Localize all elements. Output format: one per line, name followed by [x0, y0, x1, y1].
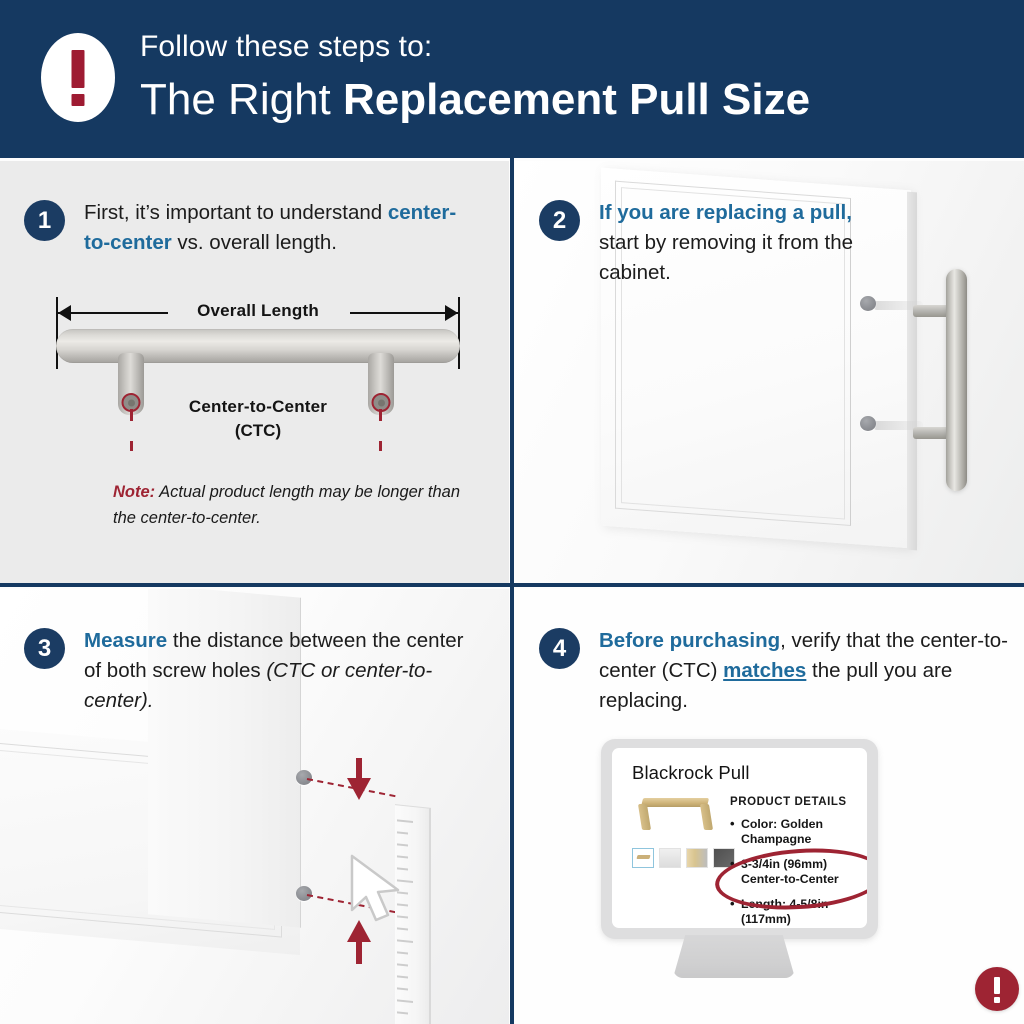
product-hero-leg-right — [700, 804, 713, 830]
step-2-text: If you are replacing a pull, start by re… — [599, 198, 894, 288]
step-3-number: 3 — [24, 628, 65, 669]
exclamation-icon — [975, 967, 1019, 1011]
panel-step-3: 3 Measure the distance between the cente… — [0, 589, 509, 1024]
exclamation-dot — [72, 94, 85, 106]
product-details-heading: PRODUCT DETAILS — [730, 796, 860, 808]
screw-hole-bottom — [860, 416, 876, 431]
infographic-page: Follow these steps to: The Right Replace… — [0, 0, 1024, 1024]
panel-step-1: 1 First, it’s important to understand ce… — [0, 161, 509, 583]
step-4-part-2[interactable]: matches — [723, 659, 806, 682]
step-4-head: 4 Before purchasing, verify that the cen… — [539, 626, 1009, 716]
header-kicker: Follow these steps to: — [140, 28, 1000, 66]
mouse-pointer-icon — [348, 854, 406, 931]
product-detail-color: Color: Golden Champagne — [730, 817, 860, 847]
pull-bar-graphic — [56, 329, 460, 363]
measure-arrow-up-shaft — [356, 940, 362, 964]
step-4-text: Before purchasing, verify that the cente… — [599, 626, 1009, 716]
exclamation-stem — [72, 50, 85, 88]
step-2-head: 2 If you are replacing a pull, start by … — [539, 198, 959, 288]
ctc-label: Center-to-Center — [108, 397, 408, 417]
step-3-text: Measure the distance between the center … — [84, 626, 464, 716]
alert-exclamation-dot — [994, 997, 1000, 1003]
measure-arrow-down-head — [347, 778, 371, 800]
product-detail-center-to-center: 3-3/4in (96mm) Center-to-Center — [730, 857, 860, 887]
panel-divider-vertical — [510, 158, 514, 1024]
step-1-part-2: vs. overall length. — [172, 231, 337, 254]
note-lead: Note: — [113, 483, 155, 501]
pull-dimension-diagram: Overall Length Center-to-Center (CTC) — [48, 301, 468, 451]
step-4-number: 4 — [539, 628, 580, 669]
product-thumbnail-3[interactable] — [686, 848, 708, 868]
step-2-part-1: start by removing it from the cabinet. — [599, 231, 853, 284]
page-title: The Right Replacement Pull Size — [140, 72, 1000, 128]
step-1-head: 1 First, it’s important to understand ce… — [24, 198, 464, 258]
ctc-abbrev-label: (CTC) — [108, 421, 408, 441]
alert-exclamation-stem — [994, 977, 1000, 994]
screw-hole-top — [860, 296, 876, 311]
overall-length-label: Overall Length — [48, 301, 468, 321]
note-body: Actual product length may be longer than… — [113, 483, 460, 527]
product-hero-leg-left — [638, 804, 651, 830]
step-4-part-0: Before purchasing — [599, 629, 780, 652]
product-thumbnail-1[interactable] — [632, 848, 654, 868]
page-title-bold: Replacement Pull Size — [343, 75, 810, 124]
step-1-part-0: First, it’s important to understand — [84, 201, 388, 224]
note-text: Note: Actual product length may be longe… — [113, 479, 473, 531]
product-thumbnail-1-image — [636, 855, 650, 859]
step-1-number: 1 — [24, 200, 65, 241]
header-text-block: Follow these steps to: The Right Replace… — [140, 28, 1000, 128]
panel-step-4: 4 Before purchasing, verify that the cen… — [515, 589, 1024, 1024]
step-3-part-0: Measure — [84, 629, 167, 652]
product-monitor: Blackrock Pull PRODUCT DETAILS Color: Go… — [601, 739, 878, 944]
step-2-number: 2 — [539, 200, 580, 241]
exclamation-icon — [41, 33, 115, 122]
measure-arrow-down-shaft — [356, 758, 362, 780]
step-1-text: First, it’s important to understand cent… — [84, 198, 464, 258]
monitor-stand — [673, 935, 795, 978]
product-hero-image — [634, 796, 716, 836]
pull-bar-vertical — [946, 269, 967, 491]
product-title: Blackrock Pull — [632, 762, 750, 784]
page-title-light: The Right — [140, 75, 343, 124]
product-details-block: PRODUCT DETAILS Color: Golden Champagne … — [730, 796, 860, 928]
header-banner: Follow these steps to: The Right Replace… — [0, 0, 1024, 158]
step-3-head: 3 Measure the distance between the cente… — [24, 626, 464, 716]
product-hero-bar — [641, 798, 709, 807]
panel-divider-horizontal — [0, 583, 1024, 587]
step-2-part-0: If you are replacing a pull, — [599, 201, 852, 224]
panel-step-2: 2 If you are replacing a pull, start by … — [515, 161, 1024, 583]
measure-arrow-down-icon — [344, 758, 374, 810]
monitor-screen: Blackrock Pull PRODUCT DETAILS Color: Go… — [612, 748, 867, 928]
product-thumbnail-2[interactable] — [659, 848, 681, 868]
product-detail-length: Length: 4-5/8in (117mm) — [730, 897, 860, 927]
